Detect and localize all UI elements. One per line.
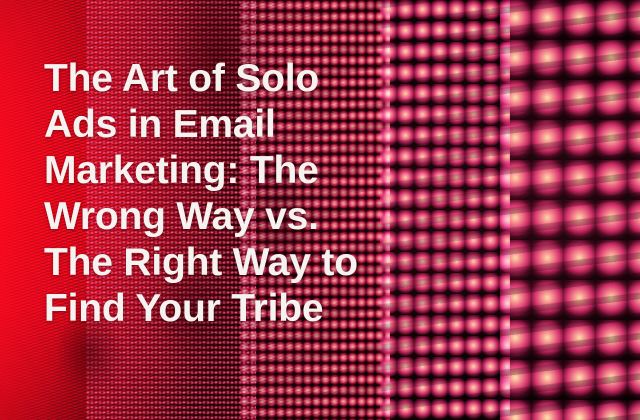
- hero-banner: The Art of Solo Ads in Email Marketing: …: [0, 0, 640, 420]
- banner-headline: The Art of Solo Ads in Email Marketing: …: [44, 56, 404, 332]
